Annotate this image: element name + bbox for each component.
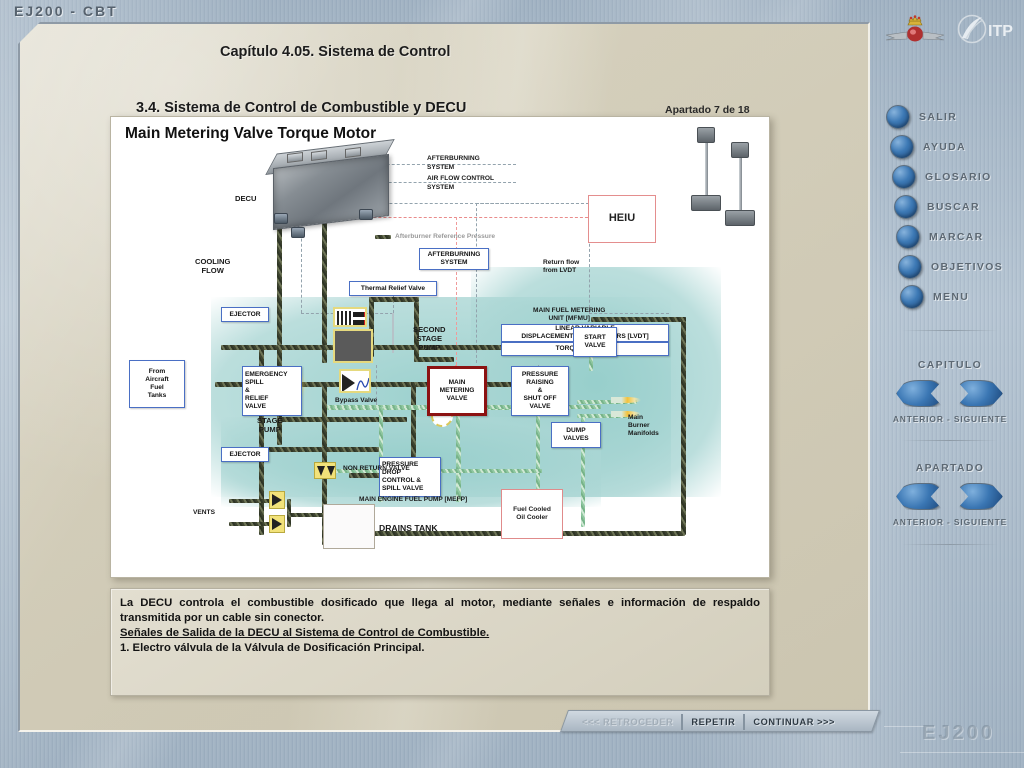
apartado-group-sublabel: ANTERIOR - SIGUIENTE	[876, 517, 1024, 527]
fuel-filter-icon	[333, 307, 367, 327]
label-second-stage-pump: SECOND STAGE PUMP	[413, 325, 446, 352]
pipe-legend-afterburner-ref	[375, 235, 391, 239]
start-valve-label: START VALVE	[584, 334, 606, 350]
sidebar-divider-1	[902, 330, 998, 331]
afterburning-system-box: AFTERBURNING SYSTEM	[419, 248, 489, 270]
chapter-title: Capítulo 4.05. Sistema de Control	[220, 44, 450, 60]
thermal-relief-valve-label: Thermal Relief Valve	[361, 285, 425, 293]
actuator-head-1	[697, 127, 715, 143]
drains-tank-box	[323, 504, 375, 549]
sidebar-divider-2	[902, 440, 998, 441]
description-panel: La DECU controla el combustible dosifica…	[110, 588, 770, 696]
page-title: 3.4. Sistema de Control de Combustible y…	[136, 100, 466, 116]
back-button[interactable]: <<< RETROCEDER	[574, 713, 681, 731]
ejector-box-2: EJECTOR	[221, 447, 269, 462]
apartado-group-title: APARTADO	[876, 463, 1024, 474]
pipe-decu-left-vertical	[277, 225, 282, 345]
menu-icon	[900, 285, 924, 309]
actuator-head-2	[731, 142, 749, 158]
sidebar-item-label: MARCAR	[929, 232, 984, 243]
actuator-rod-2	[739, 150, 742, 214]
sidebar-item-label: BUSCAR	[927, 202, 980, 213]
label-drains-tank: DRAINS TANK	[379, 523, 438, 533]
actuator-rod-1	[705, 135, 708, 199]
sidebar-item-objetivos[interactable]: OBJETIVOS	[898, 255, 1003, 279]
label-afterburner-reference-pressure: Afterburner Reference Pressure	[395, 233, 495, 241]
heiu-label: HEIU	[609, 212, 635, 225]
afterburning-system-box-label: AFTERBURNING SYSTEM	[428, 251, 481, 267]
capitulo-group-sublabel: ANTERIOR - SIGUIENTE	[876, 414, 1024, 424]
fuel-cooled-oil-cooler-label: Fuel Cooled Oil Cooler	[513, 506, 551, 522]
emergency-spill-relief-valve-box: EMERGENCY SPILL & RELIEF VALVE	[242, 366, 302, 416]
buscar-icon	[894, 195, 918, 219]
dump-valves-box: DUMP VALVES	[551, 422, 601, 448]
apartado-previous-button[interactable]	[896, 483, 943, 510]
sidebar-item-menu[interactable]: MENU	[900, 285, 969, 309]
actuator-body-2	[725, 210, 755, 226]
start-valve-box: START VALVE	[573, 327, 617, 357]
capitulo-group-title: CAPITULO	[876, 360, 1024, 371]
pipe-afterburning-box-horizontal	[414, 357, 454, 362]
decu-mount-1	[274, 213, 288, 224]
nrv-glyph	[317, 466, 335, 478]
pipe-decu-mid-vertical	[322, 223, 327, 363]
pipe-lower-horizontal	[259, 447, 379, 452]
description-line-1: La DECU controla el combustible dosifica…	[120, 596, 760, 626]
watermark-ej200: EJ200	[922, 722, 995, 745]
capitulo-previous-button[interactable]	[896, 380, 943, 407]
signal-line-to-heiu	[476, 203, 589, 204]
description-line-3: 1. Electro válvula de la Válvula de Dosi…	[120, 641, 760, 656]
sidebar: SALIR AYUDA GLOSARIO BUSCAR MARCAR OBJET…	[876, 0, 1024, 768]
vent-valve-icon-1	[269, 491, 285, 509]
sidebar-item-label: OBJETIVOS	[931, 262, 1003, 273]
label-mefp: MAIN ENGINE FUEL PUMP [MEFP]	[359, 496, 467, 504]
repeat-button[interactable]: REPETIR	[683, 713, 743, 731]
label-bypass-valve: Bypass Valve	[335, 397, 377, 405]
sidebar-item-buscar[interactable]: BUSCAR	[894, 195, 980, 219]
capitulo-next-button[interactable]	[956, 380, 1003, 407]
watermark-line-2	[900, 752, 1024, 753]
bottom-navigation-bar: <<< RETROCEDER REPETIR CONTINUAR >>>	[560, 710, 880, 734]
sidebar-item-marcar[interactable]: MARCAR	[896, 225, 984, 249]
vent-valve-icon-2	[269, 515, 285, 533]
decu-mount-2	[291, 227, 305, 238]
main-metering-valve-box[interactable]: MAIN METERING VALVE	[427, 366, 487, 416]
objetivos-icon	[898, 255, 922, 279]
burner-flame-1	[611, 397, 641, 403]
diagram-panel: Main Metering Valve Torque Motor	[110, 116, 770, 578]
glosario-icon	[892, 165, 916, 189]
label-return-flow-lvdt: Return flow from LVDT	[543, 259, 579, 275]
fuel-cooled-oil-cooler-box: Fuel Cooled Oil Cooler	[501, 489, 563, 539]
spring-icon	[356, 372, 371, 393]
apartado-next-button[interactable]	[956, 483, 1003, 510]
actuator-body-1	[691, 195, 721, 211]
ejector-box-1: EJECTOR	[221, 307, 269, 322]
label-afterburning-system-2: SYSTEM	[427, 164, 454, 172]
from-aircraft-fuel-tanks-label: From Aircraft Fuel Tanks	[145, 368, 168, 400]
label-mfmu: MAIN FUEL METERING UNIT [MFMU]	[533, 307, 605, 323]
pipe-afterburner-ref-horizontal	[369, 297, 419, 302]
pipe-vent-to-tank	[287, 513, 325, 517]
content-page: Capítulo 4.05. Sistema de Control 3.4. S…	[18, 22, 870, 732]
sidebar-item-salir[interactable]: SALIR	[886, 105, 957, 129]
label-air-flow-control-1: AIR FLOW CONTROL	[427, 175, 494, 183]
pipe-right-outer-vertical	[681, 317, 686, 535]
label-cooling-flow: COOLING FLOW	[195, 257, 230, 275]
sidebar-item-label: GLOSARIO	[925, 172, 992, 183]
watermark-line-1	[884, 726, 924, 727]
pipe-green-prsov-down	[536, 407, 540, 502]
non-return-valve-icon	[314, 462, 336, 479]
pressure-drop-control-spill-valve-box: PRESSURE DROP CONTROL & SPILL VALVE	[379, 457, 441, 497]
label-non-return-valve: NON RETURN VALVE	[343, 465, 410, 473]
label-air-flow-control-2: SYSTEM	[427, 184, 454, 192]
diagram-title: Main Metering Valve Torque Motor	[125, 125, 376, 143]
decu-label: DECU	[235, 194, 257, 203]
sidebar-item-label: AYUDA	[923, 142, 966, 153]
label-afterburning-system-1: AFTERBURNING	[427, 155, 480, 163]
decu-mount-3	[359, 209, 373, 220]
signal-line-grey-vertical	[476, 203, 477, 363]
from-aircraft-fuel-tanks-box: From Aircraft Fuel Tanks	[129, 360, 185, 408]
ejector-label-2: EJECTOR	[229, 451, 260, 459]
filter-element-icon	[333, 329, 373, 363]
ejector-label-1: EJECTOR	[229, 311, 260, 319]
heiu-box: HEIU	[588, 195, 656, 243]
thermal-relief-valve-box: Thermal Relief Valve	[349, 281, 437, 296]
sidebar-divider-3	[902, 544, 998, 545]
description-line-2: Señales de Salida de la DECU al Sistema …	[120, 626, 760, 641]
marcar-icon	[896, 225, 920, 249]
pressure-raising-shut-off-valve-box: PRESSURE RAISING & SHUT OFF VALVE	[511, 366, 569, 416]
main-metering-valve-label: MAIN METERING VALVE	[440, 379, 475, 403]
sidebar-item-ayuda[interactable]: AYUDA	[890, 135, 966, 159]
bypass-valve-icon	[339, 369, 371, 393]
continue-button[interactable]: CONTINUAR >>>	[745, 713, 843, 731]
pipe-return-horizontal	[277, 417, 407, 422]
label-main-burner-manifolds: Main Burner Manifolds	[628, 414, 659, 438]
label-vents: VENTS	[193, 509, 215, 517]
dump-valves-label: DUMP VALVES	[563, 427, 588, 443]
ayuda-icon	[890, 135, 914, 159]
apartado-counter: Apartado 7 de 18	[665, 104, 750, 116]
sidebar-item-label: SALIR	[919, 112, 957, 123]
app-title: EJ200 - CBT	[14, 3, 118, 19]
pressure-raising-shut-off-valve-label: PRESSURE RAISING & SHUT OFF VALVE	[522, 371, 558, 411]
sidebar-item-glosario[interactable]: GLOSARIO	[892, 165, 992, 189]
pipe-green-cooler-1	[457, 447, 461, 502]
emergency-spill-relief-valve-label: EMERGENCY SPILL & RELIEF VALVE	[245, 371, 299, 411]
salir-icon	[886, 105, 910, 129]
sidebar-item-label: MENU	[933, 292, 969, 303]
